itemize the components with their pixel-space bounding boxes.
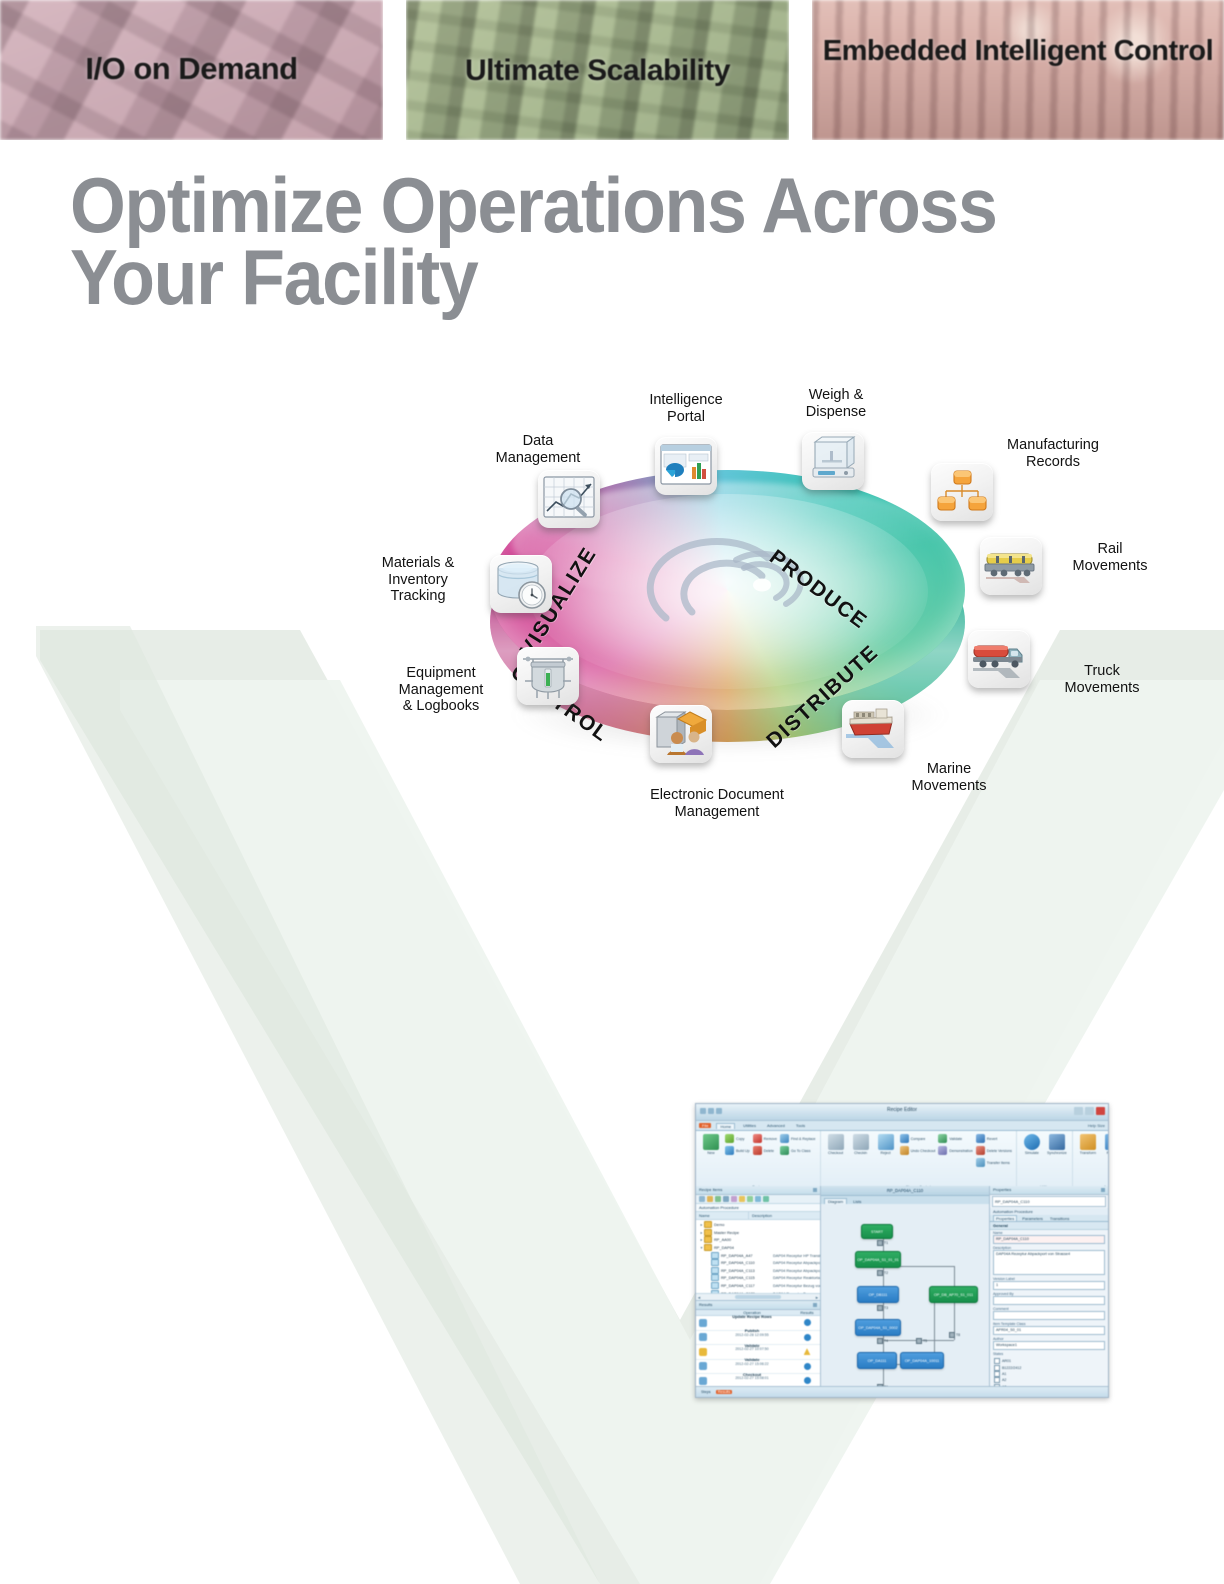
tree-row-description: DAP04 Receptur Abpackport von xyxy=(773,1260,820,1265)
ribbon-button-demonstration[interactable]: Demonstration xyxy=(938,1146,972,1155)
flow-transition[interactable]: T4 xyxy=(877,1338,888,1344)
properties-pane-title: Properties xyxy=(990,1186,1108,1195)
flow-transition[interactable]: T5 xyxy=(916,1338,927,1344)
banner-ultimate-scalability: Ultimate Scalability xyxy=(406,0,789,140)
tree-row-description: DAP04 Receptur Reaktorlauf xyxy=(773,1275,820,1280)
screenshot-titlebar: Recipe Editor xyxy=(696,1104,1108,1121)
pin-icon[interactable] xyxy=(813,1188,817,1192)
column-header-description[interactable]: Description xyxy=(749,1212,775,1219)
ribbon-button-refresh[interactable]: Refresh xyxy=(1102,1134,1109,1155)
ribbon-tab-strip[interactable]: File Home Utilities Advanced Tools Help … xyxy=(696,1121,1108,1131)
ribbon-button-go-to-class[interactable]: Go To Class xyxy=(780,1146,816,1155)
tree-row-name: RP_DAP04 xyxy=(714,1245,766,1250)
recipe-items-pane[interactable]: Recipe Items Automation Procedure Name D… xyxy=(696,1186,821,1387)
folder-icon xyxy=(704,1221,712,1228)
ribbon-group-automation: Transform Refresh Upload Automation xyxy=(1073,1131,1109,1190)
transfer-items-icon xyxy=(976,1158,985,1167)
flow-transition[interactable]: T2 xyxy=(877,1270,888,1276)
filter-icon[interactable] xyxy=(731,1196,737,1202)
rail-tank-car-icon xyxy=(980,537,1042,595)
flow-node-op1[interactable]: OP_DAP04A_S1_01_01 xyxy=(855,1251,901,1268)
diagram-node-label: Truck Movements xyxy=(1040,663,1164,696)
ribbon-button-checkin[interactable]: Checkin xyxy=(850,1134,872,1155)
diagram-pane[interactable]: RP_DAP04A_C110 Diagram Lists START OP_DA… xyxy=(821,1186,989,1387)
document-icon xyxy=(711,1252,719,1259)
selected-item-class: Automation Procedure xyxy=(990,1208,1108,1215)
tree-row-name: RP_DAP04A_C117 xyxy=(721,1283,773,1288)
diagram-node-label: Marine Movements xyxy=(880,761,1018,794)
status-badge xyxy=(804,1319,811,1326)
org-hierarchy-icon xyxy=(931,463,993,521)
field-description[interactable]: Description DAP04A Rezeptur Abpackport v… xyxy=(990,1245,1108,1276)
results-operation: Validate xyxy=(744,1343,759,1348)
ribbon-button-reject[interactable]: Reject xyxy=(875,1134,897,1155)
checkbox-icon[interactable] xyxy=(994,1377,1000,1383)
checkbox-label: AR01 xyxy=(1002,1359,1011,1363)
document-icon xyxy=(711,1267,719,1274)
cargo-ship-icon xyxy=(842,700,904,758)
concentric-pulse-rings-icon xyxy=(640,532,820,642)
recipe-tree[interactable]: ▸Demo▸Master Recipe▸RP_AA00▾RP_DAP04RP_D… xyxy=(696,1220,820,1293)
checkbox-icon[interactable] xyxy=(994,1365,1000,1371)
paste-icon[interactable] xyxy=(763,1196,769,1202)
flow-node-op3[interactable]: OP_DB_AP70_S1_011 xyxy=(929,1286,978,1303)
flow-node-start[interactable]: START xyxy=(861,1224,893,1239)
tree-row-name: RP_DAP04A_C113 xyxy=(721,1268,773,1273)
tree-row[interactable]: ▸Demo xyxy=(696,1221,820,1229)
flow-node-op2[interactable]: OP_DB111 xyxy=(857,1286,899,1303)
reject-icon xyxy=(878,1134,894,1150)
tab-advanced[interactable]: Advanced xyxy=(764,1123,788,1128)
copy-icon xyxy=(725,1134,734,1143)
window-buttons[interactable] xyxy=(1074,1107,1105,1115)
checkbox-label: A1 xyxy=(1002,1372,1006,1376)
properties-pane[interactable]: Properties RP_DAP04A_C110 Automation Pro… xyxy=(989,1186,1108,1387)
pin-icon[interactable] xyxy=(813,1303,817,1307)
copy-icon[interactable] xyxy=(755,1196,761,1202)
ribbon-group-utility: Simulate Synchronize Utility xyxy=(1017,1131,1073,1190)
status-badge xyxy=(804,1363,811,1370)
tree-row[interactable]: RP_DAP04A_C115DAP04 Receptur Reaktorlauf xyxy=(696,1274,820,1282)
diagram-node-label: Materials & Inventory Tracking xyxy=(350,555,486,605)
tree-horizontal-scrollbar[interactable]: ◄ ► xyxy=(696,1293,820,1300)
tree-row-name: Master Recipe xyxy=(714,1230,766,1235)
process-diagram: VISUALIZE PRODUCE DISTRIBUTE CONTROL Dat… xyxy=(380,375,1170,835)
field-input[interactable] xyxy=(993,1311,1105,1320)
ribbon-button-find-replace[interactable]: Find & Replace xyxy=(780,1134,816,1143)
flow-node-op4[interactable]: OP_DAP04A_S1_0002 xyxy=(855,1319,901,1336)
status-tab-results[interactable]: Results xyxy=(716,1390,733,1394)
results-operation: Update Recipe Rows xyxy=(732,1314,772,1319)
close-icon[interactable] xyxy=(1096,1107,1105,1115)
field-input[interactable]: Workspace1 xyxy=(993,1341,1105,1350)
field-comment[interactable]: Comment xyxy=(990,1306,1108,1321)
field-approved-by[interactable]: Approved By xyxy=(990,1291,1108,1306)
document-tabs[interactable]: Diagram Lists xyxy=(821,1196,989,1204)
field-textarea[interactable]: DAP04A Rezeptur Abpackport von Strasse4 xyxy=(993,1250,1105,1275)
checkout-icon xyxy=(828,1134,844,1150)
window-title: Recipe Editor xyxy=(696,1107,1108,1113)
dashboard-charts-icon xyxy=(655,437,717,495)
field-item-template-class[interactable]: Item Template Class APR04_S0_01 xyxy=(990,1321,1108,1336)
diagram-node-label: Data Management xyxy=(468,433,608,466)
results-operation: Checkout xyxy=(743,1372,761,1377)
new-icon[interactable] xyxy=(699,1196,705,1202)
ribbon-button-remove[interactable]: Remove xyxy=(753,1134,777,1143)
screenshot-body: Recipe Items Automation Procedure Name D… xyxy=(696,1186,1108,1387)
checkin-icon xyxy=(853,1134,869,1150)
checkbox-icon[interactable] xyxy=(994,1358,1000,1364)
ribbon-button-undo-checkout[interactable]: Undo Checkout xyxy=(900,1146,936,1155)
revert-icon xyxy=(976,1134,985,1143)
status-bar[interactable]: Steps Results xyxy=(696,1386,1108,1397)
ribbon-button-validate[interactable]: Validate xyxy=(938,1134,972,1143)
results-list[interactable]: Update Recipe Rows2012-02-28 12:09:55Pub… xyxy=(696,1316,820,1389)
document-icon xyxy=(711,1274,719,1281)
folder-icon xyxy=(704,1229,712,1236)
ribbon-button-delete[interactable]: Delete xyxy=(753,1146,777,1155)
ribbon-button-revert[interactable]: Revert xyxy=(976,1134,1012,1143)
expand-icon[interactable] xyxy=(739,1196,745,1202)
minimize-icon[interactable] xyxy=(1074,1107,1083,1115)
tab-properties[interactable]: Properties xyxy=(993,1215,1017,1221)
new-icon xyxy=(703,1134,719,1150)
tree-toolbar[interactable] xyxy=(696,1195,820,1204)
diagram-node-label: Intelligence Portal xyxy=(612,392,760,425)
compare-icon xyxy=(900,1134,909,1143)
checkbox-icon[interactable] xyxy=(994,1371,1000,1377)
synchronize-icon xyxy=(1049,1134,1065,1150)
diagram-node-label: Equipment Management & Logbooks xyxy=(370,665,512,715)
remove-icon xyxy=(753,1134,762,1143)
pane-title: Recipe Items xyxy=(696,1186,820,1195)
results-title-text: Results xyxy=(699,1302,712,1307)
banner-strip: I/O on Demand Ultimate Scalability Embed… xyxy=(0,0,1224,140)
tree-row[interactable]: ▸Master Recipe xyxy=(696,1229,820,1237)
diagram-node-label: Rail Movements xyxy=(1052,541,1168,574)
banner-caption: Ultimate Scalability xyxy=(406,55,789,87)
flow-transition[interactable]: T1 xyxy=(877,1240,888,1246)
page-title: Optimize Operations Across Your Facility xyxy=(70,170,1008,314)
software-screenshot[interactable]: Recipe Editor File Home Utilities Advanc… xyxy=(695,1103,1109,1398)
diagram-node-label: Electronic Document Management xyxy=(592,787,842,820)
undo-checkout-icon xyxy=(900,1146,909,1155)
banner-image-refinery xyxy=(812,0,1224,140)
folder-icon xyxy=(704,1244,712,1251)
validate-icon xyxy=(938,1134,947,1143)
pane-title-text: Recipe Items xyxy=(699,1187,722,1192)
transform-icon xyxy=(1080,1134,1096,1150)
column-header-name[interactable]: Name xyxy=(696,1212,749,1219)
tree-root-label: Automation Procedure xyxy=(696,1204,820,1211)
diagram-node-label: Manufacturing Records xyxy=(970,437,1136,470)
field-version-label[interactable]: Version Label 1 xyxy=(990,1276,1108,1291)
status-badge xyxy=(804,1348,811,1355)
ribbon-button-compare[interactable]: Compare xyxy=(900,1134,936,1143)
status-badge xyxy=(804,1334,811,1341)
maximize-icon[interactable] xyxy=(1085,1107,1094,1115)
tree-row[interactable]: RP_DAP04A_C117DAP04 Receptur Bezug von T… xyxy=(696,1282,820,1290)
flow-node-op6[interactable]: OP_DAP04A_10011 xyxy=(900,1352,944,1369)
flowchart-canvas[interactable]: START OP_DAP04A_S1_01_01 OP_DB111 OP_DB_… xyxy=(821,1204,989,1387)
flow-transition[interactable]: T8 xyxy=(949,1332,960,1338)
tanker-truck-icon xyxy=(968,630,1030,688)
analytical-balance-icon xyxy=(802,432,864,490)
folder-icon xyxy=(704,1236,712,1243)
scroll-left-icon[interactable]: ◄ xyxy=(697,1295,701,1300)
checkbox-label: A2 xyxy=(1002,1378,1006,1382)
tree-column-headers: Name Description xyxy=(696,1211,820,1220)
documents-people-icon xyxy=(650,705,712,763)
ribbon-group-recipe: New Copy Build Up Remove xyxy=(696,1131,821,1190)
status-badge xyxy=(804,1377,811,1384)
tab-tools[interactable]: Tools xyxy=(793,1123,808,1128)
ribbon-button-simulate[interactable]: Simulate xyxy=(1021,1134,1043,1155)
field-label: States xyxy=(993,1352,1105,1356)
save-icon[interactable] xyxy=(715,1196,721,1202)
tree-row-name: RP_DAP04A_C115 xyxy=(721,1275,773,1280)
simulate-icon xyxy=(1024,1134,1040,1150)
diagram-node-label: Weigh & Dispense xyxy=(772,387,900,420)
build-up-icon xyxy=(725,1146,734,1155)
row-icon xyxy=(699,1377,707,1385)
collapse-icon[interactable] xyxy=(747,1196,753,1202)
flow-connector xyxy=(954,1266,955,1340)
ribbon-button-copy[interactable]: Copy xyxy=(725,1134,750,1143)
tab-file[interactable]: File xyxy=(699,1123,711,1128)
status-tab-steps[interactable]: Steps xyxy=(699,1390,713,1394)
ribbon-group-change-control: Checkout Checkin Reject Compare xyxy=(821,1131,1017,1190)
ribbon-right-controls[interactable]: Help Size xyxy=(1088,1123,1105,1128)
refresh-icon[interactable] xyxy=(723,1196,729,1202)
pin-icon[interactable] xyxy=(1101,1188,1105,1192)
process-vessel-icon xyxy=(517,647,579,705)
ribbon-button-delete-versions[interactable]: Delete Versions xyxy=(976,1146,1012,1155)
checkbox-label: B1222/2412 xyxy=(1002,1366,1021,1370)
properties-section-general: General xyxy=(990,1222,1108,1230)
tree-row[interactable]: RP_DAP04A_C110DAP04 Receptur Abpackport … xyxy=(696,1259,820,1267)
field-input[interactable]: APR04_S0_01 xyxy=(993,1326,1105,1335)
document-icon xyxy=(711,1282,719,1289)
row-icon xyxy=(699,1319,707,1327)
column-header-results[interactable]: Results xyxy=(794,1310,820,1315)
open-icon[interactable] xyxy=(707,1196,713,1202)
banner-io-on-demand: I/O on Demand xyxy=(0,0,383,140)
refresh-icon xyxy=(1105,1134,1109,1150)
scroll-right-icon[interactable]: ► xyxy=(815,1295,819,1300)
properties-tabs[interactable]: Properties Parameters Transitions xyxy=(990,1215,1108,1222)
ribbon-button-new[interactable]: New xyxy=(700,1134,722,1155)
delete-icon xyxy=(753,1146,762,1155)
flow-transition[interactable]: T3 xyxy=(877,1305,888,1311)
results-operation: Validate xyxy=(744,1357,759,1362)
field-input[interactable]: 1 xyxy=(993,1281,1105,1290)
tree-row-name: RP_DAP04A_A47 xyxy=(721,1253,773,1258)
field-input[interactable] xyxy=(993,1296,1105,1305)
selected-item-name: RP_DAP04A_C110 xyxy=(992,1196,1106,1207)
tree-row[interactable]: RP_DAP04A_A47DAP04 Receptur HP Transfer xyxy=(696,1251,820,1259)
field-name[interactable]: Name RP_DAP04A_C110 xyxy=(990,1230,1108,1245)
tank-clock-icon xyxy=(490,555,552,613)
properties-title-text: Properties xyxy=(993,1187,1011,1192)
ribbon-button-synchronize[interactable]: Synchronize xyxy=(1046,1134,1068,1155)
tree-row-name: RP_AA00 xyxy=(714,1237,766,1242)
tab-parameters[interactable]: Parameters xyxy=(1020,1216,1045,1221)
scrollbar-thumb[interactable] xyxy=(735,1295,781,1299)
results-pane-title: Results xyxy=(696,1301,820,1310)
column-header-icon xyxy=(696,1310,710,1315)
banner-embedded-intelligent-control: Embedded Intelligent Control xyxy=(812,0,1224,140)
tree-row-description: DAP04 Receptur HP Transfer xyxy=(773,1253,820,1258)
delete-versions-icon xyxy=(976,1146,985,1155)
ribbon[interactable]: New Copy Build Up Remove xyxy=(696,1131,1108,1188)
tree-row[interactable]: ▸RP_AA00 xyxy=(696,1236,820,1244)
ribbon-button-transform[interactable]: Transform xyxy=(1077,1134,1099,1155)
field-input[interactable]: RP_DAP04A_C110 xyxy=(993,1235,1105,1244)
ribbon-button-build-up[interactable]: Build Up xyxy=(725,1146,750,1155)
chart-magnifier-icon xyxy=(538,470,600,528)
row-icon xyxy=(699,1362,707,1370)
field-author[interactable]: Author Workspace1 xyxy=(990,1336,1108,1351)
document-title: RP_DAP04A_C110 xyxy=(821,1186,989,1196)
row-icon xyxy=(699,1348,707,1356)
results-operation: Publish xyxy=(745,1328,759,1333)
row-icon xyxy=(699,1333,707,1341)
tree-row-description: DAP04 Receptur Abpackport von xyxy=(773,1268,820,1273)
tree-row[interactable]: RP_DAP04A_C113DAP04 Receptur Abpackport … xyxy=(696,1267,820,1275)
tree-row-description: DAP04 Receptur Bezug von Tan xyxy=(773,1283,820,1288)
ribbon-button-transfer-items[interactable]: Transfer Items xyxy=(976,1158,1012,1167)
document-icon xyxy=(711,1259,719,1266)
flow-node-op5[interactable]: OP_DA111 xyxy=(857,1352,897,1369)
tree-row-name: Demo xyxy=(714,1222,766,1227)
tab-transitions[interactable]: Transitions xyxy=(1048,1216,1071,1221)
ribbon-button-checkout[interactable]: Checkout xyxy=(825,1134,847,1155)
tree-row[interactable]: ▾RP_DAP04 xyxy=(696,1244,820,1252)
find-replace-icon xyxy=(780,1134,789,1143)
banner-caption: Embedded Intelligent Control xyxy=(812,36,1224,66)
tab-home[interactable]: Home xyxy=(716,1123,735,1129)
tree-row-name: RP_DAP04A_C110 xyxy=(721,1260,773,1265)
tab-utilities[interactable]: Utilities xyxy=(740,1123,759,1128)
demonstration-icon xyxy=(938,1146,947,1155)
results-pane[interactable]: Results Operation Results Update Recipe … xyxy=(696,1300,820,1387)
go-to-class-icon xyxy=(780,1146,789,1155)
banner-caption: I/O on Demand xyxy=(0,53,383,86)
